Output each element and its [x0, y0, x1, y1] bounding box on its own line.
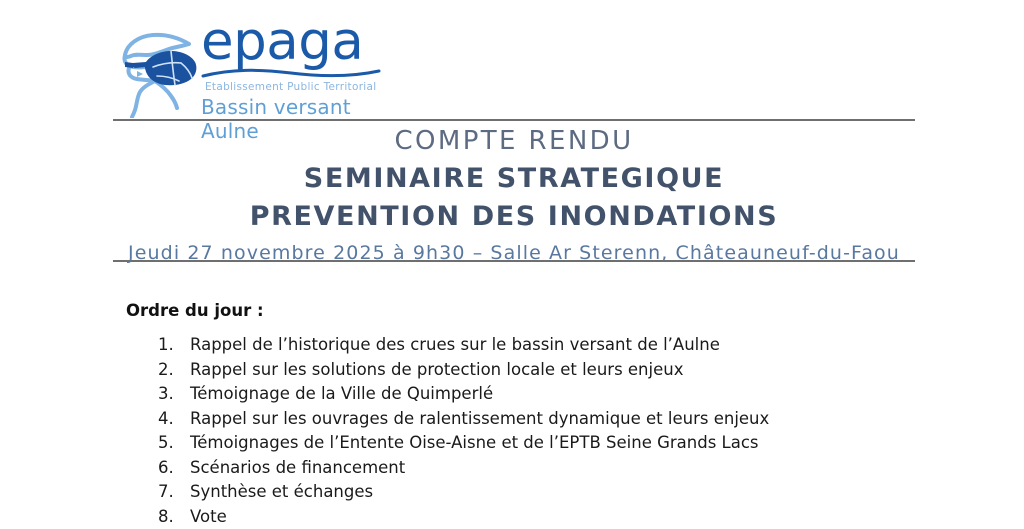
list-item-number: 1.	[158, 333, 190, 358]
agenda-section: Ordre du jour : 1. Rappel de l’historiqu…	[126, 300, 926, 529]
header-rule-top	[113, 119, 915, 121]
list-item-number: 4.	[158, 407, 190, 432]
list-item-number: 3.	[158, 382, 190, 407]
list-item: 6. Scénarios de financement	[126, 456, 926, 481]
list-item-label: Rappel sur les solutions de protection l…	[190, 358, 926, 383]
list-item-label: Scénarios de financement	[190, 456, 926, 481]
list-item-label: Rappel de l’historique des crues sur le …	[190, 333, 926, 358]
list-item-number: 7.	[158, 480, 190, 505]
list-item-label: Témoignage de la Ville de Quimperlé	[190, 382, 926, 407]
agenda-heading: Ordre du jour :	[126, 300, 926, 322]
epaga-logo: epaga Etablissement Public Territorial B…	[113, 14, 403, 118]
document-kind-title: COMPTE RENDU	[113, 124, 915, 158]
document-title-block: COMPTE RENDU SEMINAIRE STRATEGIQUE PREVE…	[113, 124, 915, 266]
list-item: 3. Témoignage de la Ville de Quimperlé	[126, 382, 926, 407]
list-item: 8. Vote	[126, 505, 926, 529]
list-item-label: Rappel sur les ouvrages de ralentissemen…	[190, 407, 926, 432]
document-title-line-2: PREVENTION DES INONDATIONS	[113, 198, 915, 236]
brittany-watershed-map-icon	[113, 22, 205, 118]
logo-wordmark: epaga	[201, 14, 401, 70]
agenda-list: 1. Rappel de l’historique des crues sur …	[126, 333, 926, 529]
list-item: 7. Synthèse et échanges	[126, 480, 926, 505]
list-item: 5. Témoignages de l’Entente Oise-Aisne e…	[126, 431, 926, 456]
list-item-number: 2.	[158, 358, 190, 383]
document-title-line-1: SEMINAIRE STRATEGIQUE	[113, 160, 915, 198]
list-item: 4. Rappel sur les ouvrages de ralentisse…	[126, 407, 926, 432]
list-item-label: Témoignages de l’Entente Oise-Aisne et d…	[190, 431, 926, 456]
list-item-number: 8.	[158, 505, 190, 529]
list-item: 1. Rappel de l’historique des crues sur …	[126, 333, 926, 358]
list-item-label: Synthèse et échanges	[190, 480, 926, 505]
list-item-number: 5.	[158, 431, 190, 456]
list-item: 2. Rappel sur les solutions de protectio…	[126, 358, 926, 383]
document-page: epaga Etablissement Public Territorial B…	[0, 0, 1024, 522]
logo-tagline-small: Etablissement Public Territorial	[205, 81, 401, 94]
list-item-label: Vote	[190, 505, 926, 529]
list-item-number: 6.	[158, 456, 190, 481]
document-date-location: Jeudi 27 novembre 2025 à 9h30 – Salle Ar…	[113, 240, 915, 266]
